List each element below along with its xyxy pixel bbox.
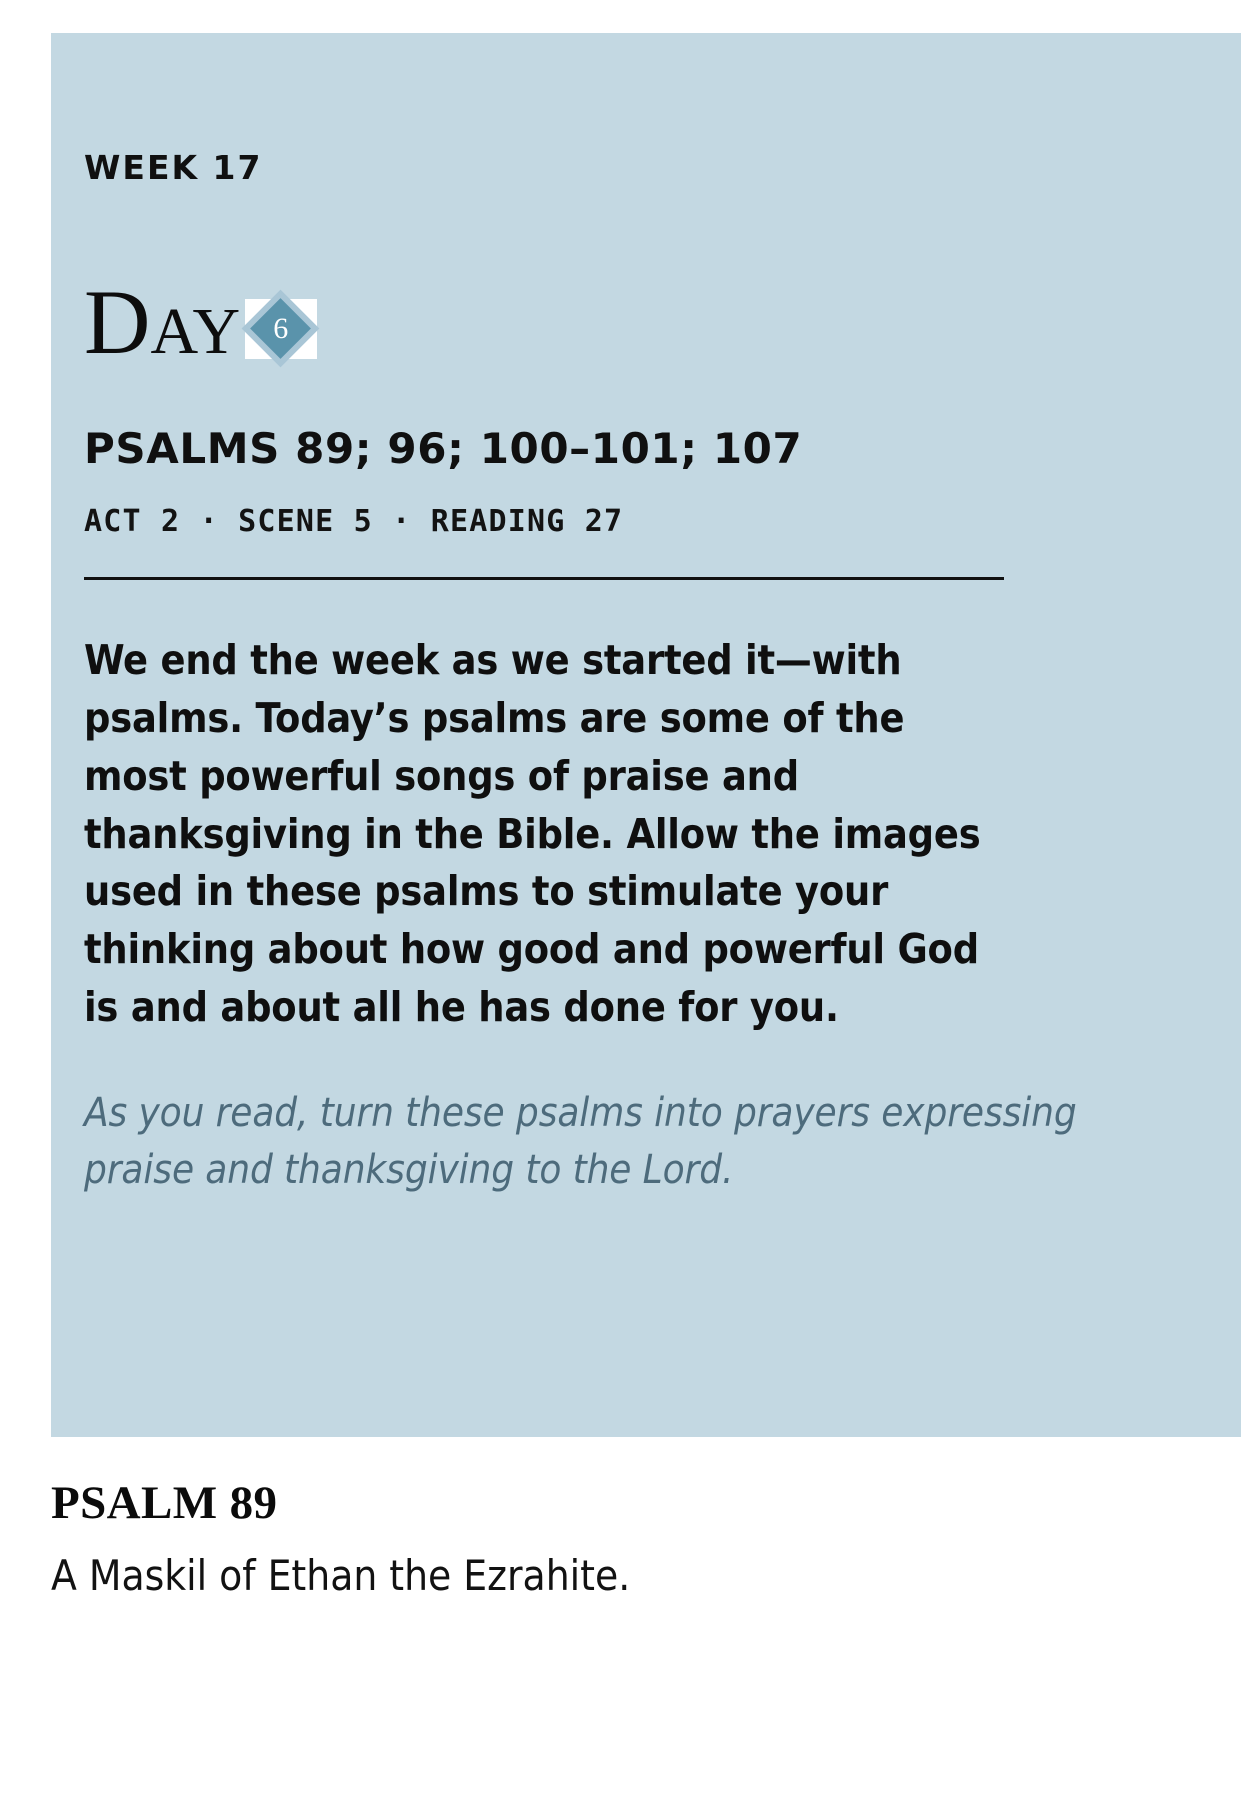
psalm-heading: PSALM 89	[51, 1478, 1201, 1530]
week-label: WEEK 17	[84, 151, 1181, 184]
intro-body-text: We end the week as we started it—with ps…	[84, 632, 1019, 1037]
day-initial-cap: D	[84, 271, 150, 373]
day-number-badge: 6	[245, 299, 317, 359]
psalm-section: PSALM 89 A Maskil of Ethan the Ezrahite.	[51, 1478, 1201, 1600]
intro-note-text: As you read, turn these psalms into pray…	[84, 1085, 1184, 1199]
act-scene-reading-line: ACT 2 · SCENE 5 · READING 27	[84, 506, 1181, 538]
psalm-subtitle: A Maskil of Ethan the Ezrahite.	[51, 1552, 1201, 1600]
page-root: WEEK 17 DAY 6 PSALMS 89; 96; 100–101; 10…	[0, 0, 1242, 1797]
day-number: 6	[245, 299, 317, 359]
passage-title: PSALMS 89; 96; 100–101; 107	[84, 427, 1181, 471]
day-heading-text: DAY	[84, 280, 241, 365]
day-heading: DAY 6	[84, 280, 1181, 365]
day-smallcaps: AY	[150, 295, 240, 368]
devotional-intro-panel: WEEK 17 DAY 6 PSALMS 89; 96; 100–101; 10…	[51, 33, 1241, 1437]
divider-rule	[84, 577, 1004, 580]
